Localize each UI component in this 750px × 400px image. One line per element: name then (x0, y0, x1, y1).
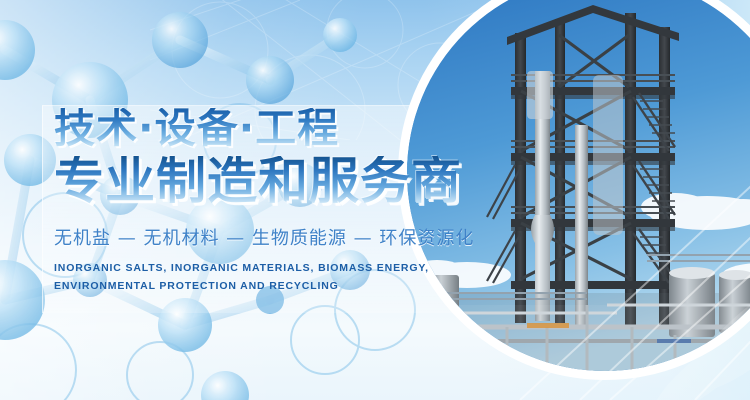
subtitle-chinese: 无机盐 — 无机材料 — 生物质能源 — 环保资源化 (54, 224, 524, 250)
hero-banner: 技术·设备·工程 专业制造和服务商 无机盐 — 无机材料 — 生物质能源 — 环… (0, 0, 750, 400)
banner-text-block: 技术·设备·工程 专业制造和服务商 无机盐 — 无机材料 — 生物质能源 — 环… (54, 108, 524, 296)
subtitle-english: INORGANIC SALTS, INORGANIC MATERIALS, BI… (54, 259, 466, 296)
headline-line-2: 专业制造和服务商 (54, 156, 524, 206)
headline-line-1: 技术·设备·工程 (54, 108, 524, 149)
